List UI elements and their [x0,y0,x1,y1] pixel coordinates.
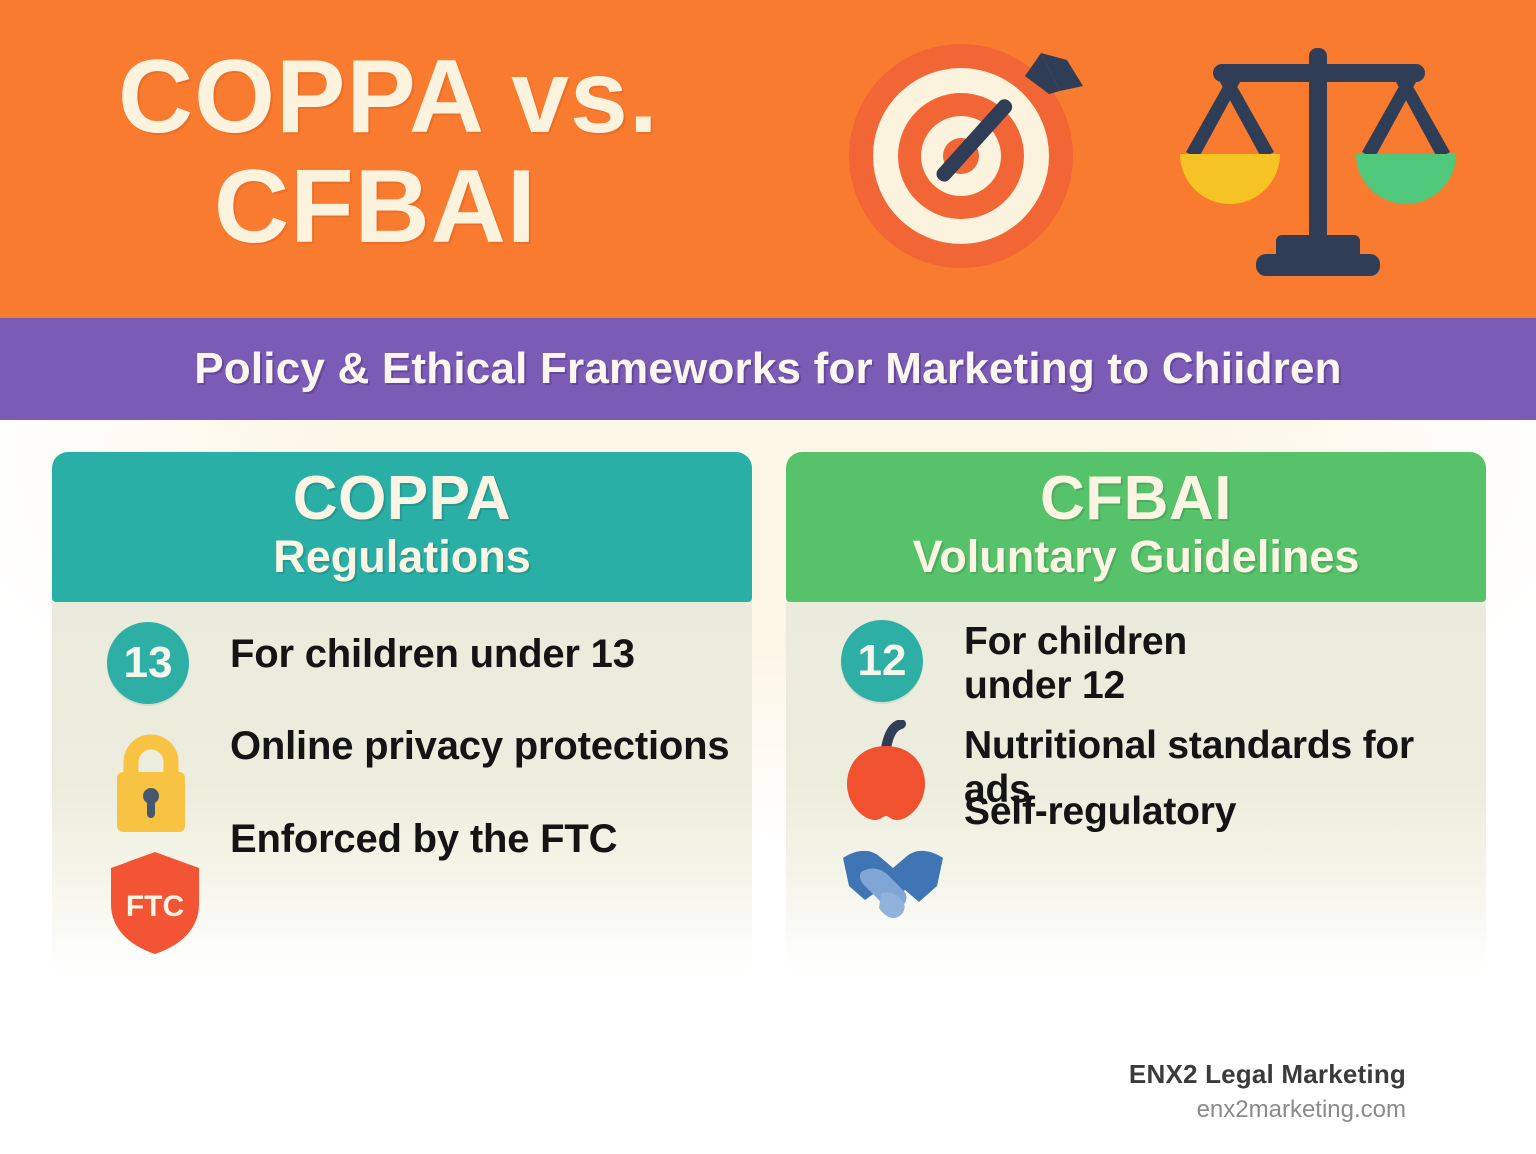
card-cfbai: CFBAI Voluntary Guidelines 12 [786,452,1486,982]
card-coppa-item-1-text: For children under 13 [230,632,744,677]
number-badge-13-value: 13 [107,622,189,704]
footer-brand: ENX2 Legal Marketing [1129,1059,1406,1090]
shield-ftc-icon: FTC [107,850,217,956]
padlock-icon [107,728,217,838]
apple-icon [841,720,951,824]
card-coppa-title: COPPA [70,468,734,530]
footer: ENX2 Legal Marketing enx2marketing.com [1129,1059,1406,1124]
title-line-1: COPPA vs. [118,42,818,152]
card-coppa-item-3-text: Enforced by the FTC [230,817,744,862]
card-coppa-body: 13 FTC For children under 13 [52,602,752,982]
card-cfbai-item-3-text: Self-regulatory [964,790,1478,834]
balance-scales-icon [1168,30,1468,290]
header-band: COPPA vs. CFBAI [0,0,1536,318]
handshake-icon [841,842,951,928]
card-cfbai-body: 12 For children under 12 [786,602,1486,982]
subtitle-band: Policy & Ethical Frameworks for Marketin… [0,318,1536,420]
title-line-2: CFBAI [214,152,818,262]
infographic-page: COPPA vs. CFBAI [0,0,1536,1154]
card-cfbai-item-1-text: For children under 12 [964,620,1478,707]
number-badge-12-icon: 12 [841,620,951,702]
card-coppa: COPPA Regulations 13 FTC [52,452,752,982]
card-cfbai-item-1-line2: under 12 [964,664,1125,707]
page-title: COPPA vs. CFBAI [118,42,818,262]
card-coppa-item-2-text: Online privacy protections [230,724,744,769]
card-coppa-subtitle: Regulations [70,532,734,582]
card-cfbai-header: CFBAI Voluntary Guidelines [786,452,1486,602]
card-cfbai-title: CFBAI [804,468,1468,530]
number-badge-13-icon: 13 [107,622,217,704]
card-cfbai-item-1-line1: For children [964,620,1187,663]
subtitle-text: Policy & Ethical Frameworks for Marketin… [194,344,1342,394]
number-badge-12-value: 12 [841,620,923,702]
card-coppa-header: COPPA Regulations [52,452,752,602]
target-bullseye-arrow-icon [845,28,1093,278]
card-cfbai-subtitle: Voluntary Guidelines [804,532,1468,582]
footer-url[interactable]: enx2marketing.com [1129,1096,1406,1124]
shield-ftc-label: FTC [126,890,184,923]
